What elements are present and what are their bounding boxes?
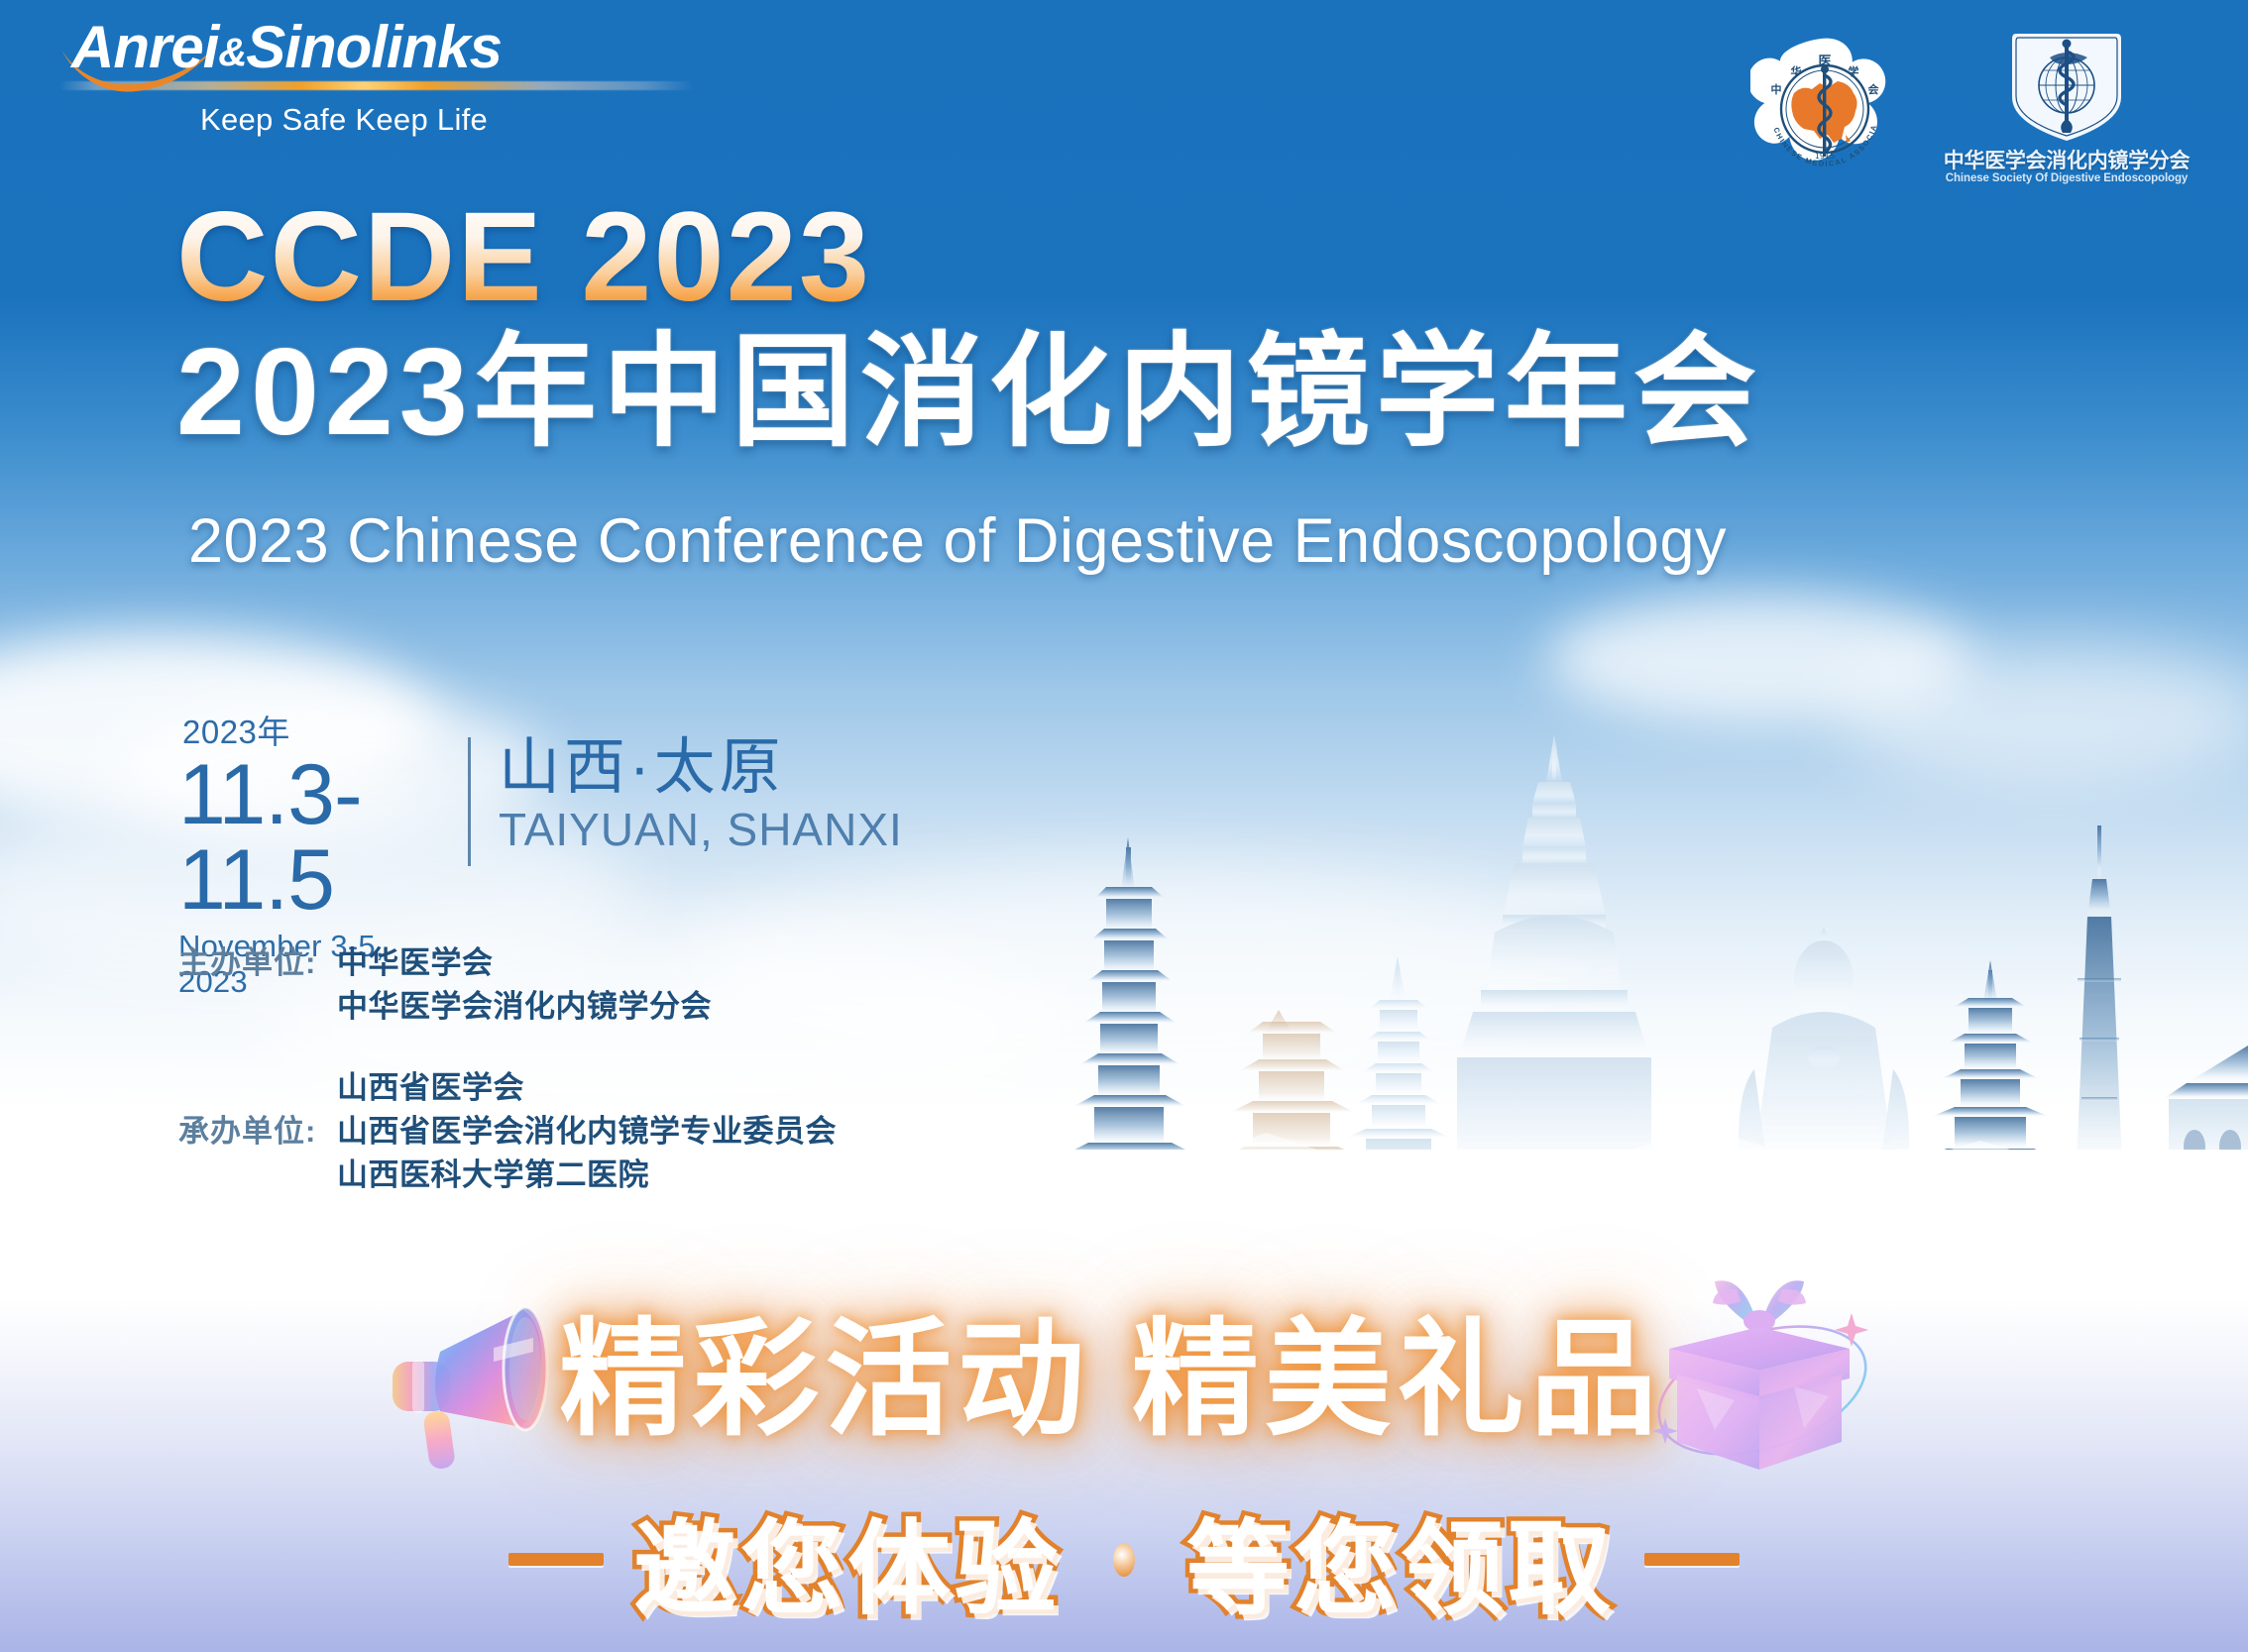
divider [468,737,471,866]
organizer-row: 主办单位: 中华医学会 中华医学会消化内镜学分会 [178,941,837,1029]
organizer-value: 中华医学会 [337,941,712,985]
brand-ampersand: & [218,31,246,74]
promo-subline-right: 等您领取 [1186,1485,1615,1634]
organizers-block: 主办单位: 中华医学会 中华医学会消化内镜学分会 承办单位: 山西省医学会 山西… [178,941,837,1235]
page-title-cn: 2023年中国消化内镜学年会 [176,327,1762,460]
event-year-label: 2023年 [182,716,446,748]
dash-icon [508,1553,604,1566]
brand-tagline: Keep Safe Keep Life [200,102,724,138]
promo-subline-row: 邀您体验 等您领取 [0,1485,2248,1634]
organizer-value: 山西医科大学第二医院 [337,1154,837,1197]
csde-shield-icon [1943,28,2191,147]
organizer-label: 主办单位: [178,941,337,985]
conference-poster: Anrei&Sinolinks Keep Safe Keep Life 医 华 … [0,0,2248,1652]
gift-box-icon [1645,1271,1873,1480]
brand-name-part1: Anrei [71,14,218,80]
page-title-en: 2023 Chinese Conference of Digestive End… [188,505,1727,577]
dot-separator-icon [1113,1543,1135,1577]
organizer-value: 中华医学会消化内镜学分会 [337,985,712,1029]
promo-headline-row: 精彩活动 精美礼品 [0,1271,2248,1489]
promo-headline: 精彩活动 精美礼品 [559,1307,1663,1453]
organizer-row: 承办单位: 山西省医学会 山西省医学会消化内镜学专业委员会 山西医科大学第二医院 [178,1066,837,1197]
organizer-values: 山西省医学会 山西省医学会消化内镜学专业委员会 山西医科大学第二医院 [337,1066,837,1197]
dash-icon [1644,1553,1740,1566]
event-city-cn: 山西·太原 [499,737,903,799]
megaphone-icon [375,1290,563,1479]
organizer-value: 山西省医学会 [337,1066,837,1110]
promo-subline-left: 邀您体验 [633,1485,1062,1634]
organizer-value: 山西省医学会消化内镜学专业委员会 [337,1110,837,1154]
event-code: CCDE 2023 [176,194,871,321]
svg-text:会: 会 [1868,82,1880,96]
brand-wordmark: Anrei&Sinolinks [50,18,724,77]
brand-logo: Anrei&Sinolinks Keep Safe Keep Life [50,18,724,138]
svg-text:学: 学 [1849,64,1859,78]
brand-underline-bar [59,81,694,90]
event-city-en: TAIYUAN, SHANXI [499,807,903,852]
csde-name-en: Chinese Society Of Digestive Endoscopolo… [1943,172,2191,184]
svg-text:医: 医 [1818,55,1831,69]
event-date-range: 11.3-11.5 [178,752,446,923]
event-city-block: 山西·太原 TAIYUAN, SHANXI [499,716,903,852]
svg-text:华: 华 [1791,64,1802,78]
taiyuan-skyline-silhouette [1009,730,2248,1186]
svg-text:中: 中 [1771,82,1782,96]
organizer-values: 中华医学会 中华医学会消化内镜学分会 [337,941,712,1029]
csde-name-cn: 中华医学会消化内镜学分会 [1943,145,2191,174]
brand-name-part2: Sinolinks [246,14,502,80]
organizer-label: 承办单位: [178,1110,337,1154]
chinese-society-of-digestive-endoscopology-logo: 中华医学会消化内镜学分会 Chinese Society Of Digestiv… [1943,28,2191,196]
chinese-medical-association-logo: 医 华 学 中 会 1915 CHINESE MEDICAL ASSOCIATI… [1750,32,1899,180]
